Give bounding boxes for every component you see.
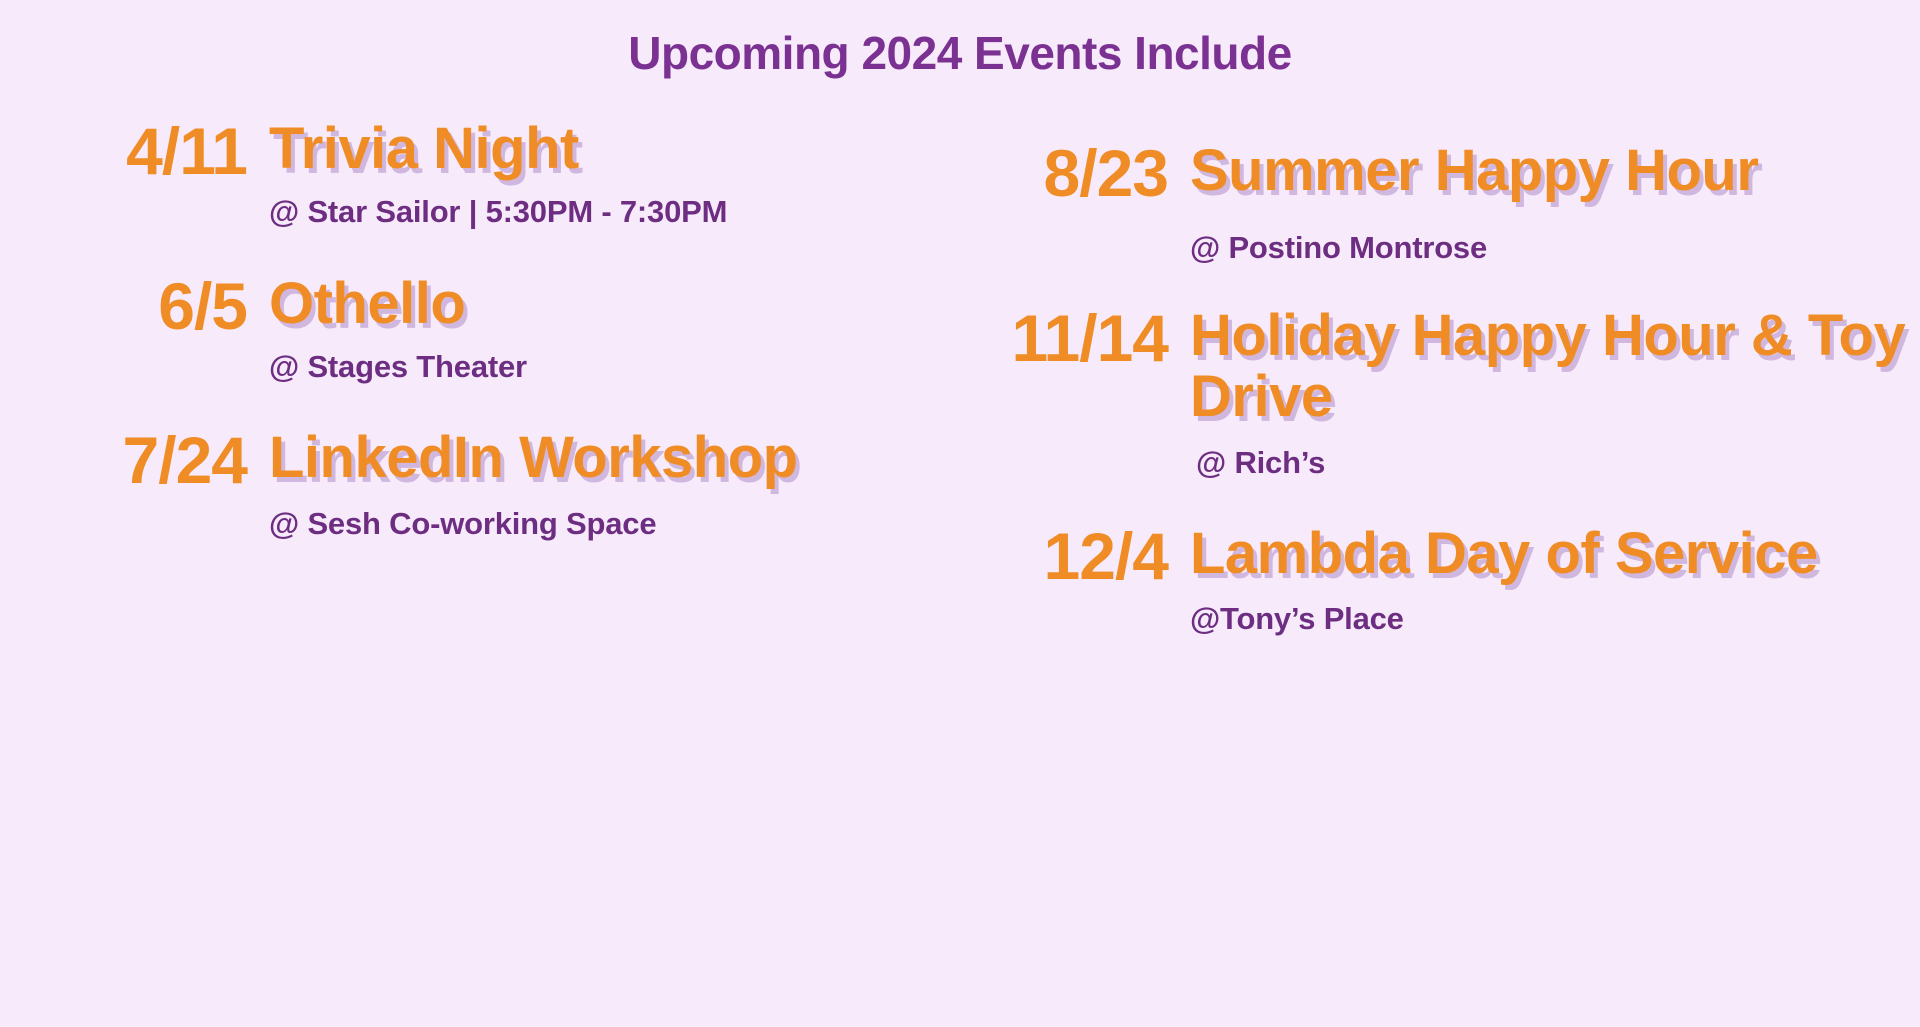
event-date: 11/14 — [990, 305, 1168, 371]
event-date: 12/4 — [990, 523, 1168, 589]
event-item: 8/23 Summer Happy Hour @ Postino Montros… — [960, 140, 1920, 267]
event-date: 4/11 — [72, 118, 247, 184]
event-body: Trivia Night @ Star Sailor | 5:30PM - 7:… — [269, 118, 960, 231]
page-title: Upcoming 2024 Events Include — [0, 28, 1920, 79]
event-date: 8/23 — [990, 140, 1168, 206]
event-body: Summer Happy Hour @ Postino Montrose — [1190, 140, 1920, 267]
event-title: Othello — [269, 273, 960, 334]
event-item: 6/5 Othello @ Stages Theater — [0, 273, 960, 386]
event-venue: @ Rich’s — [1190, 444, 1920, 481]
event-body: Othello @ Stages Theater — [269, 273, 960, 386]
event-body: Lambda Day of Service @Tony’s Place — [1190, 523, 1920, 638]
events-flyer: Upcoming 2024 Events Include 4/11 Trivia… — [0, 0, 1920, 1005]
event-body: Holiday Happy Hour & Toy Drive @ Rich’s — [1190, 305, 1920, 481]
events-column-left: 4/11 Trivia Night @ Star Sailor | 5:30PM… — [0, 118, 960, 1005]
event-title: LinkedIn Workshop — [269, 427, 960, 488]
event-venue: @ Sesh Co-working Space — [269, 505, 960, 542]
event-item: 12/4 Lambda Day of Service @Tony’s Place — [960, 523, 1920, 638]
event-title: Summer Happy Hour — [1190, 140, 1920, 201]
event-date: 6/5 — [72, 273, 247, 339]
event-title: Lambda Day of Service — [1190, 523, 1920, 584]
event-venue: @ Postino Montrose — [1190, 229, 1920, 266]
event-date: 7/24 — [72, 427, 247, 493]
events-column-right: 8/23 Summer Happy Hour @ Postino Montros… — [960, 118, 1920, 1027]
event-title: Trivia Night — [269, 118, 960, 179]
event-title: Holiday Happy Hour & Toy Drive — [1190, 305, 1920, 428]
event-venue: @ Stages Theater — [269, 348, 960, 385]
event-item: 4/11 Trivia Night @ Star Sailor | 5:30PM… — [0, 118, 960, 231]
event-body: LinkedIn Workshop @ Sesh Co-working Spac… — [269, 427, 960, 542]
event-venue: @Tony’s Place — [1190, 600, 1920, 637]
event-item: 11/14 Holiday Happy Hour & Toy Drive @ R… — [960, 305, 1920, 481]
events-columns: 4/11 Trivia Night @ Star Sailor | 5:30PM… — [0, 118, 1920, 1005]
event-venue: @ Star Sailor | 5:30PM - 7:30PM — [269, 193, 960, 230]
event-item: 7/24 LinkedIn Workshop @ Sesh Co-working… — [0, 427, 960, 542]
